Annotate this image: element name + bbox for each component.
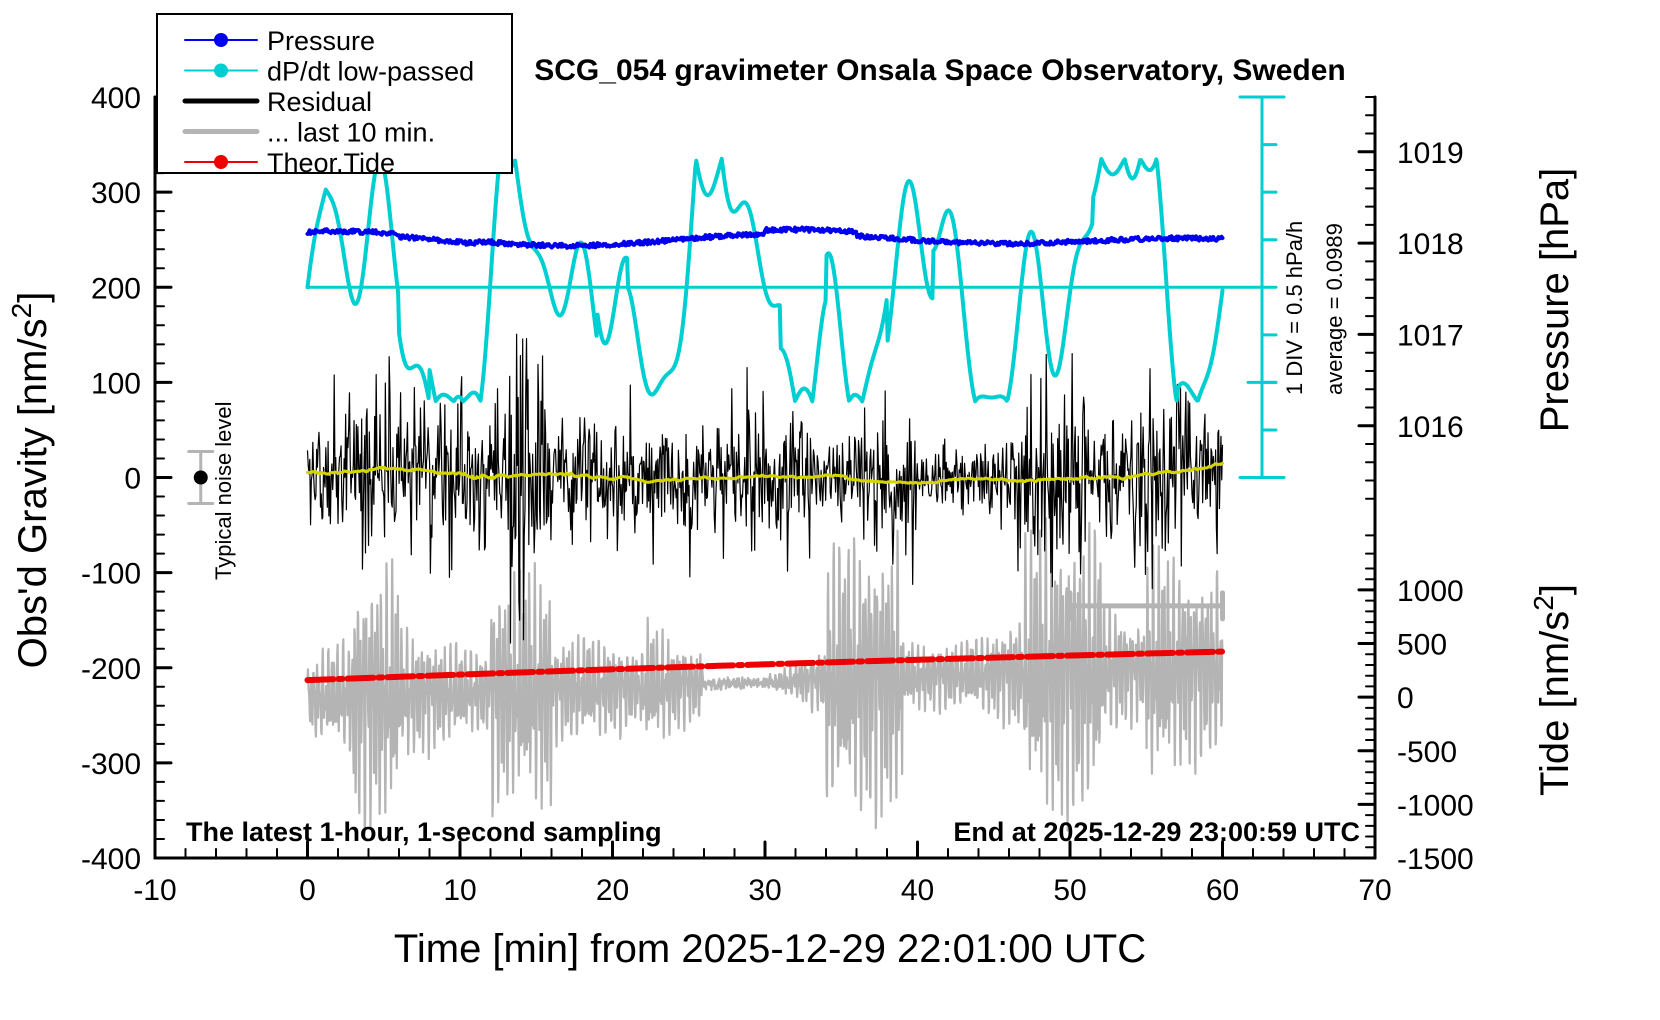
- legend-marker-5: [214, 155, 228, 169]
- legend-label-3: Residual: [267, 87, 372, 117]
- gravimeter-monitor-plot: -400-300-200-1000100200300400-1001020304…: [0, 0, 1660, 1020]
- x-axis-title: Time [min] from 2025-12-29 22:01:00 UTC: [394, 927, 1146, 971]
- legend-marker-2: [214, 64, 228, 78]
- legend-label-1: Pressure: [267, 26, 375, 56]
- x-tick-label: 10: [443, 874, 476, 907]
- pressure-tick-label: 1018: [1397, 228, 1464, 261]
- y-tick-label: -400: [81, 843, 141, 876]
- y-tick-label: -200: [81, 653, 141, 686]
- sampling-note: The latest 1-hour, 1-second sampling: [186, 817, 662, 847]
- y-tick-label: -100: [81, 558, 141, 591]
- tide-tick-label: -1000: [1397, 789, 1474, 822]
- y-tick-label: 300: [91, 177, 141, 210]
- y-tick-label: 0: [124, 463, 141, 496]
- x-tick-label: 70: [1358, 874, 1391, 907]
- pressure-axis-title: Pressure [hPa]: [1533, 168, 1577, 433]
- x-tick-label: -10: [133, 874, 176, 907]
- x-tick-label: 40: [901, 874, 934, 907]
- noise-level-label: Typical noise level: [211, 401, 236, 580]
- y-tick-label: 400: [91, 82, 141, 115]
- x-tick-label: 60: [1206, 874, 1239, 907]
- pressure-tick-label: 1016: [1397, 411, 1464, 444]
- tide-tick-label: -1500: [1397, 843, 1474, 876]
- chart-title: SCG_054 gravimeter Onsala Space Observat…: [534, 54, 1346, 87]
- tide-tick-label: 1000: [1397, 575, 1464, 608]
- tide-tick-label: 500: [1397, 629, 1447, 662]
- x-tick-label: 20: [596, 874, 629, 907]
- end-time-note: End at 2025-12-29 23:00:59 UTC: [953, 817, 1360, 847]
- y-tick-label: 100: [91, 367, 141, 400]
- dpdt-scale-note: 1 DIV = 0.5 hPa/h: [1282, 221, 1307, 395]
- y-tick-label: 200: [91, 272, 141, 305]
- tide-tick-label: 0: [1397, 682, 1414, 715]
- tide-axis-title: Tide [nm/s2]: [1528, 584, 1578, 796]
- x-tick-label: 0: [299, 874, 316, 907]
- legend-label-2: dP/dt low-passed: [267, 57, 474, 87]
- legend-label-5: Theor.Tide: [267, 148, 395, 178]
- x-tick-label: 30: [748, 874, 781, 907]
- pressure-tick-label: 1019: [1397, 137, 1464, 170]
- legend-marker-1: [214, 33, 228, 47]
- legend-label-4: ... last 10 min.: [267, 118, 435, 148]
- legend: PressuredP/dt low-passedResidual... last…: [157, 14, 512, 178]
- x-tick-label: 50: [1053, 874, 1086, 907]
- dpdt-average-note: average = 0.0989: [1322, 223, 1347, 395]
- chart-canvas: -400-300-200-1000100200300400-1001020304…: [0, 0, 1660, 1020]
- pressure-tick-label: 1017: [1397, 319, 1464, 352]
- y-tick-label: -300: [81, 748, 141, 781]
- y-axis-title: Obs'd Gravity [nm/s2]: [6, 292, 56, 669]
- tide-tick-label: -500: [1397, 736, 1457, 769]
